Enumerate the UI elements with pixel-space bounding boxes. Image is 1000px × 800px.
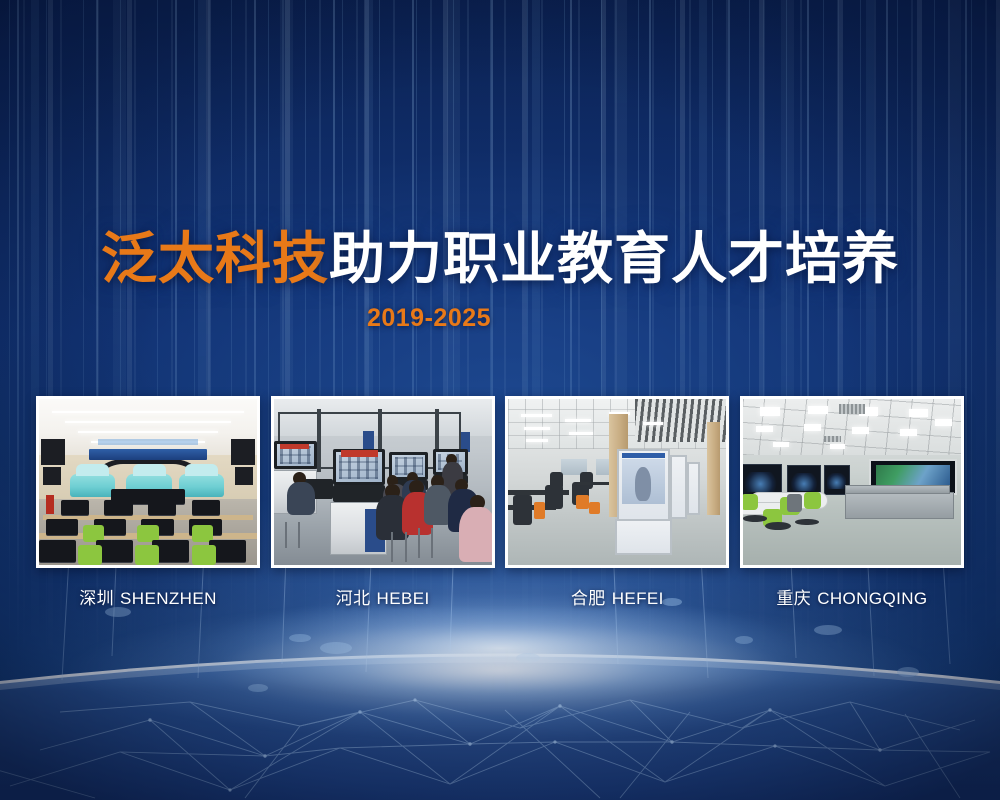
caption-shenzhen: 深圳SHENZHEN <box>36 584 260 610</box>
scene-harmonyos-auto-classroom <box>39 399 257 565</box>
gallery-photo-shenzhen[interactable] <box>36 396 260 568</box>
caption-hebei-en: HEBEI <box>377 589 430 608</box>
title-rest: 助力职业教育人才培养 <box>329 227 899 290</box>
caption-shenzhen-cn: 深圳 <box>79 589 114 608</box>
horizon-glow <box>0 608 1000 800</box>
caption-chongqing-cn: 重庆 <box>776 589 811 608</box>
gallery-captions: 深圳SHENZHEN 河北HEBEI 合肥HEFEI 重庆CHONGQING <box>36 584 964 610</box>
caption-shenzhen-en: SHENZHEN <box>120 589 217 608</box>
gallery-photo-chongqing[interactable] <box>740 396 964 568</box>
caption-hefei-en: HEFEI <box>612 589 664 608</box>
title-brand: 泛太科技 <box>101 227 329 290</box>
caption-chongqing-en: CHONGQING <box>817 589 927 608</box>
photo-gallery <box>36 396 964 568</box>
caption-hebei-cn: 河北 <box>336 589 371 608</box>
gallery-photo-hebei[interactable] <box>271 396 495 568</box>
caption-hefei: 合肥HEFEI <box>505 584 729 610</box>
poster-years: 2019-2025 <box>367 304 491 333</box>
gallery-photo-hefei[interactable] <box>505 396 729 568</box>
caption-hefei-cn: 合肥 <box>571 589 606 608</box>
caption-hebei: 河北HEBEI <box>271 584 495 610</box>
poster-title: 泛太科技助力职业教育人才培养 <box>0 231 1000 287</box>
scene-smart-screen-lab <box>743 399 961 565</box>
scene-training-bench-workshop <box>274 399 492 565</box>
poster-years-row: 2019-2025 <box>0 304 1000 333</box>
caption-chongqing: 重庆CHONGQING <box>740 584 964 610</box>
scene-display-cabinet-lab <box>508 399 726 565</box>
poster-stage: 泛太科技助力职业教育人才培养 2019-2025 <box>0 0 1000 800</box>
